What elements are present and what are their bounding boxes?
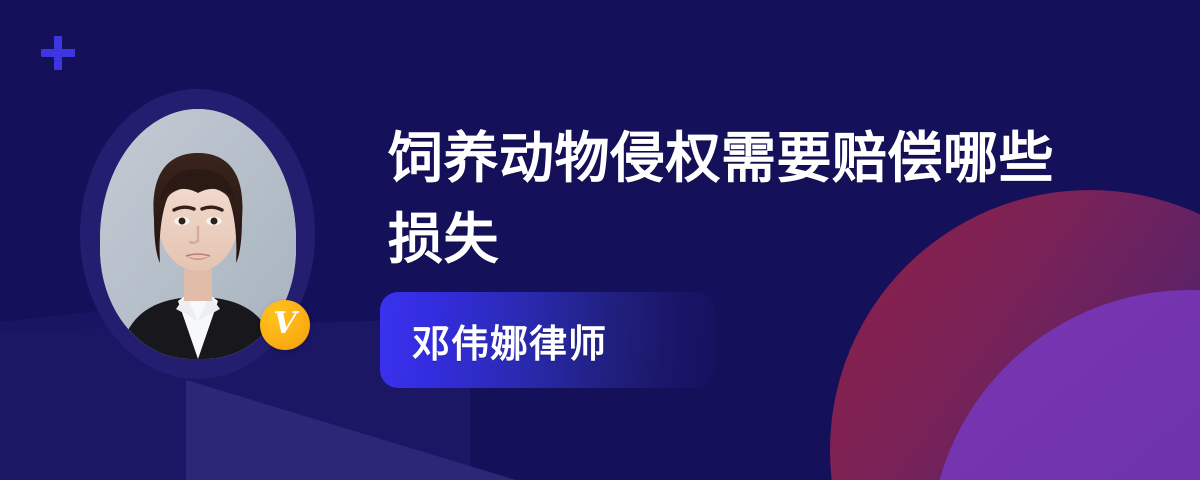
background-wedge-triangle — [186, 380, 516, 480]
plus-icon — [41, 36, 75, 70]
verified-badge-icon: V — [260, 300, 310, 350]
background-crescent-purple — [930, 290, 1200, 480]
plus-icon-horizontal-bar — [41, 49, 75, 57]
plus-icon-vertical-bar — [54, 36, 62, 70]
avatar[interactable]: V — [80, 82, 315, 382]
page-title: 饲养动物侵权需要赔偿哪些损失 — [388, 118, 1078, 280]
lawyer-name-button[interactable]: 邓伟娜律师 — [380, 292, 715, 388]
lawyer-article-banner: V 饲养动物侵权需要赔偿哪些损失 邓伟娜律师 — [0, 0, 1200, 480]
lawyer-name-label: 邓伟娜律师 — [412, 313, 607, 368]
banner-content: 饲养动物侵权需要赔偿哪些损失 — [388, 118, 1108, 280]
verified-badge-label: V — [273, 309, 296, 339]
